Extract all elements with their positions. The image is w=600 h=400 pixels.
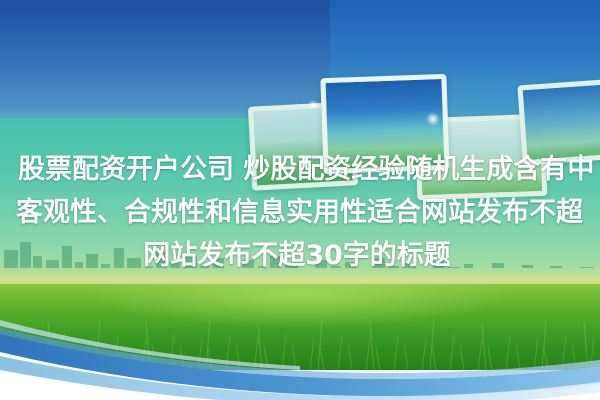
headline-line-2: 性、客观性、合规性和信息实用性适合网站发布不超 [0, 191, 600, 234]
headline-line-1: 股票配资开户公司 炒股配资经验随机生成含有中 [18, 148, 600, 191]
lens-glint-icon [426, 112, 440, 126]
banner-image: 股票配资开户公司 炒股配资经验随机生成含有中 性、客观性、合规性和信息实用性适合… [0, 0, 600, 400]
headline-line-3: 网站发布不超30字的标题 [0, 234, 600, 277]
lens-glint-icon [308, 100, 318, 110]
blue-swoosh [0, 300, 600, 400]
banner-headline: 股票配资开户公司 炒股配资经验随机生成含有中 性、客观性、合规性和信息实用性适合… [0, 148, 600, 277]
